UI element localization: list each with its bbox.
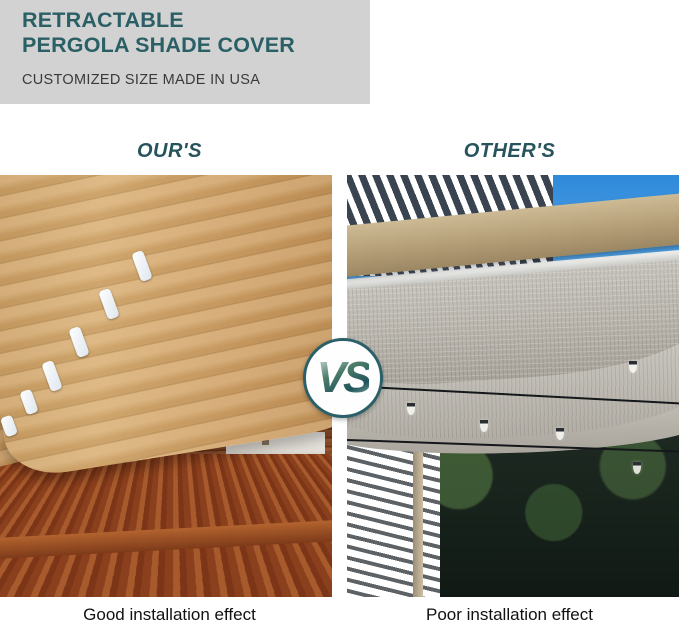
title-line-1: RETRACTABLE	[22, 8, 184, 32]
photo-poor-installation	[347, 175, 679, 597]
vs-badge-label: VS	[317, 356, 370, 400]
header-banner: RETRACTABLE PERGOLA SHADE COVER CUSTOMIZ…	[0, 0, 370, 104]
caption-good-installation: Good installation effect	[0, 605, 339, 625]
light-bulb	[480, 420, 488, 432]
shade-canopy-primary	[0, 175, 332, 480]
photo-left-frame	[0, 175, 332, 597]
caption-poor-installation: Poor installation effect	[340, 605, 679, 625]
column-label-others: OTHER'S	[340, 140, 679, 163]
page-subtitle: CUSTOMIZED SIZE MADE IN USA	[22, 72, 260, 88]
photo-good-installation	[0, 175, 332, 597]
light-bulb	[407, 403, 415, 415]
page-title: RETRACTABLE PERGOLA SHADE COVER	[22, 8, 366, 58]
light-bulb	[633, 462, 641, 474]
column-label-ours: OUR'S	[0, 140, 339, 163]
title-line-2: PERGOLA SHADE COVER	[22, 33, 366, 58]
photo-right-frame	[347, 175, 679, 597]
product-comparison-page: RETRACTABLE PERGOLA SHADE COVER CUSTOMIZ…	[0, 0, 679, 635]
vs-badge: VS	[303, 338, 383, 418]
